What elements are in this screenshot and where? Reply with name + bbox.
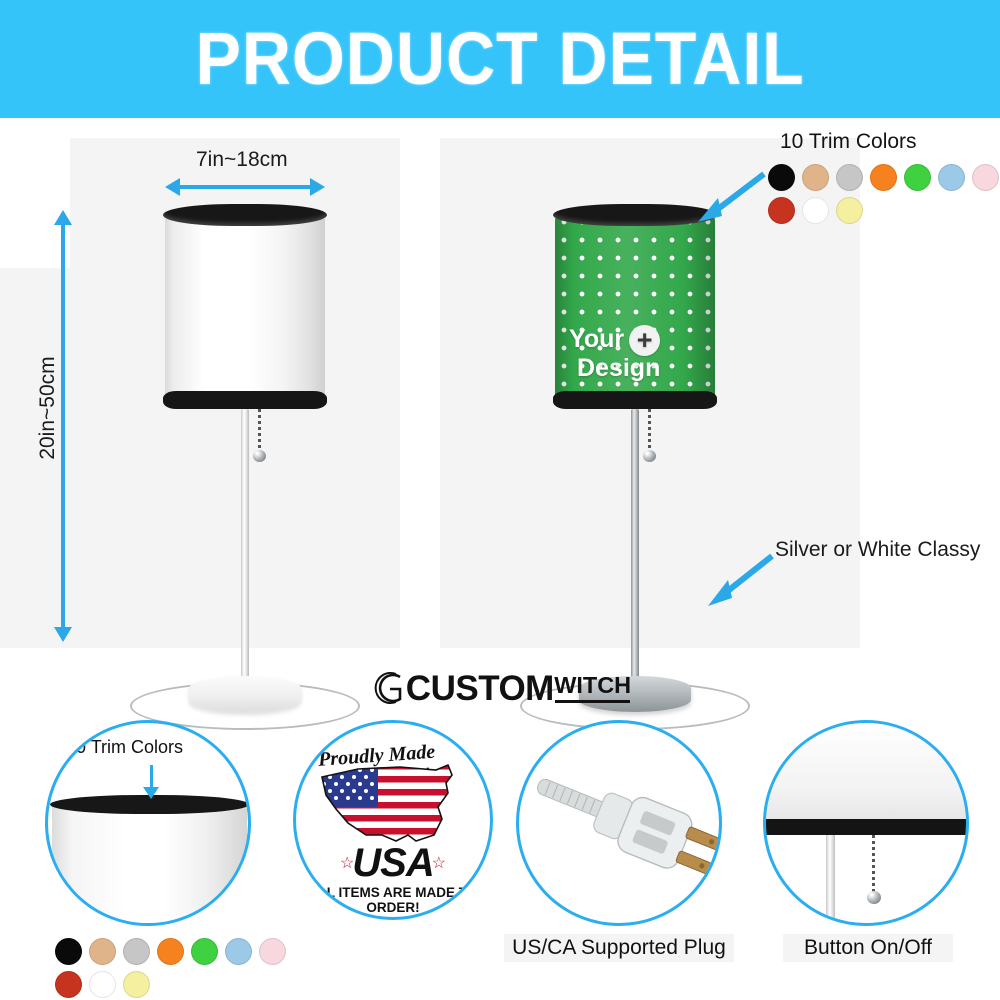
arrow-shaft (180, 185, 310, 189)
trim-color-swatch-tan[interactable] (89, 938, 116, 965)
trim-color-swatch-yellow[interactable] (123, 971, 150, 998)
trim-color-swatch-green[interactable] (191, 938, 218, 965)
width-dimension-arrow (165, 178, 325, 196)
product-stage: 7in~18cm 20in~50cm (0, 118, 1000, 660)
arrow-shaft (61, 225, 65, 627)
logo-text-witch: WITCH (554, 674, 631, 697)
pull-chain-ball (643, 450, 656, 462)
header-banner: PRODUCT DETAIL (0, 0, 1000, 118)
callout-arrow-head (143, 787, 159, 799)
feature-circle: Proudly Made in the (293, 720, 493, 920)
trim-color-swatch-pink[interactable] (259, 938, 286, 965)
trim-color-swatch-red[interactable] (55, 971, 82, 998)
logo-c-mark-icon (370, 671, 404, 705)
feature-circle (516, 720, 722, 926)
pull-chain-closeup (872, 835, 875, 893)
arrow-right-head (310, 178, 325, 196)
lampshade-closeup (52, 805, 247, 926)
trim-color-swatch-orange[interactable] (870, 164, 897, 191)
pull-chain (648, 409, 651, 453)
feature-label: Button On/Off (783, 934, 953, 962)
your-design-text-1: Your (569, 327, 624, 353)
trim-color-swatch-pink[interactable] (972, 164, 999, 191)
lampshade-blank (165, 204, 325, 409)
trim-color-swatch-red[interactable] (768, 197, 795, 224)
arrow-up-head (54, 210, 72, 225)
usa-star-right-icon: ☆ (432, 853, 446, 873)
logo-text-custom: CUSTOM (406, 671, 554, 706)
lampshade-surface (165, 213, 325, 403)
width-dimension-label: 7in~18cm (196, 148, 288, 172)
feature-row: 10 Trim Colors Proudly Made in the (0, 716, 1000, 1000)
trim-color-swatch-list[interactable] (768, 164, 1000, 230)
feature-circle: 10 Trim Colors (45, 720, 251, 926)
trim-color-swatch-white[interactable] (802, 197, 829, 224)
lampshade-lower-closeup (763, 723, 969, 821)
logo-underline (555, 700, 630, 703)
lampshade-surface: Your + Design (555, 213, 715, 403)
height-dimension-label: 20in~50cm (36, 343, 60, 473)
shade-trim-callout-arrow (692, 168, 772, 223)
your-design-overlay: Your + Design (569, 325, 660, 382)
arrow-left-head (165, 178, 180, 196)
arrow-down-head (54, 627, 72, 642)
lampshade-printed: Your + Design (555, 204, 715, 409)
usa-badge-subtitle: ALL ITEMS ARE MADE TO ORDER! (296, 885, 490, 915)
trim-colors-heading: 10 Trim Colors (780, 130, 917, 154)
lampshade-top-trim (163, 204, 327, 226)
your-design-line-2: Design (577, 356, 660, 382)
pull-chain-ball-closeup (867, 891, 881, 904)
trim-color-swatch-yellow[interactable] (836, 197, 863, 224)
callout-arrow-shaft (150, 765, 153, 789)
trim-color-swatch-tan[interactable] (802, 164, 829, 191)
page-title: PRODUCT DETAIL (195, 22, 804, 96)
trim-color-swatch-gray[interactable] (123, 938, 150, 965)
trim-color-swatch-black[interactable] (768, 164, 795, 191)
power-plug-icon (519, 723, 722, 926)
feature-circle (763, 720, 969, 926)
pull-chain (258, 409, 261, 453)
base-finish-callout-arrow (700, 548, 780, 608)
lampshade-bottom-trim (553, 391, 717, 409)
trim-color-swatch-list-bottom[interactable] (55, 938, 305, 1000)
usa-badge: Proudly Made in the (296, 723, 490, 917)
trim-color-swatch-white[interactable] (89, 971, 116, 998)
trim-color-swatch-gray[interactable] (836, 164, 863, 191)
feature-label: US/CA Supported Plug (504, 934, 734, 962)
trim-color-swatch-light-blue[interactable] (225, 938, 252, 965)
brand-logo: CUSTOM WITCH (0, 660, 1000, 716)
product-detail-infographic: PRODUCT DETAIL 7in~18cm 20in~50cm (0, 0, 1000, 1000)
trim-color-swatch-green[interactable] (904, 164, 931, 191)
lampshade-bottom-trim (163, 391, 327, 409)
feature-inner-heading: 10 Trim Colors (66, 737, 183, 758)
logo-witch-block: WITCH (555, 674, 630, 703)
trim-color-swatch-orange[interactable] (157, 938, 184, 965)
your-design-line-1: Your + (569, 325, 660, 356)
pull-chain-ball (253, 450, 266, 462)
lamp-pole-closeup (826, 835, 835, 926)
plus-icon: + (629, 325, 660, 356)
lampshade-bottom-trim-closeup (763, 819, 969, 835)
trim-color-swatch-black[interactable] (55, 938, 82, 965)
your-design-text-2: Design (577, 356, 660, 382)
base-finish-callout-label: Silver or White Classy (775, 538, 980, 562)
trim-color-swatch-light-blue[interactable] (938, 164, 965, 191)
usa-badge-word: USA (296, 841, 490, 886)
